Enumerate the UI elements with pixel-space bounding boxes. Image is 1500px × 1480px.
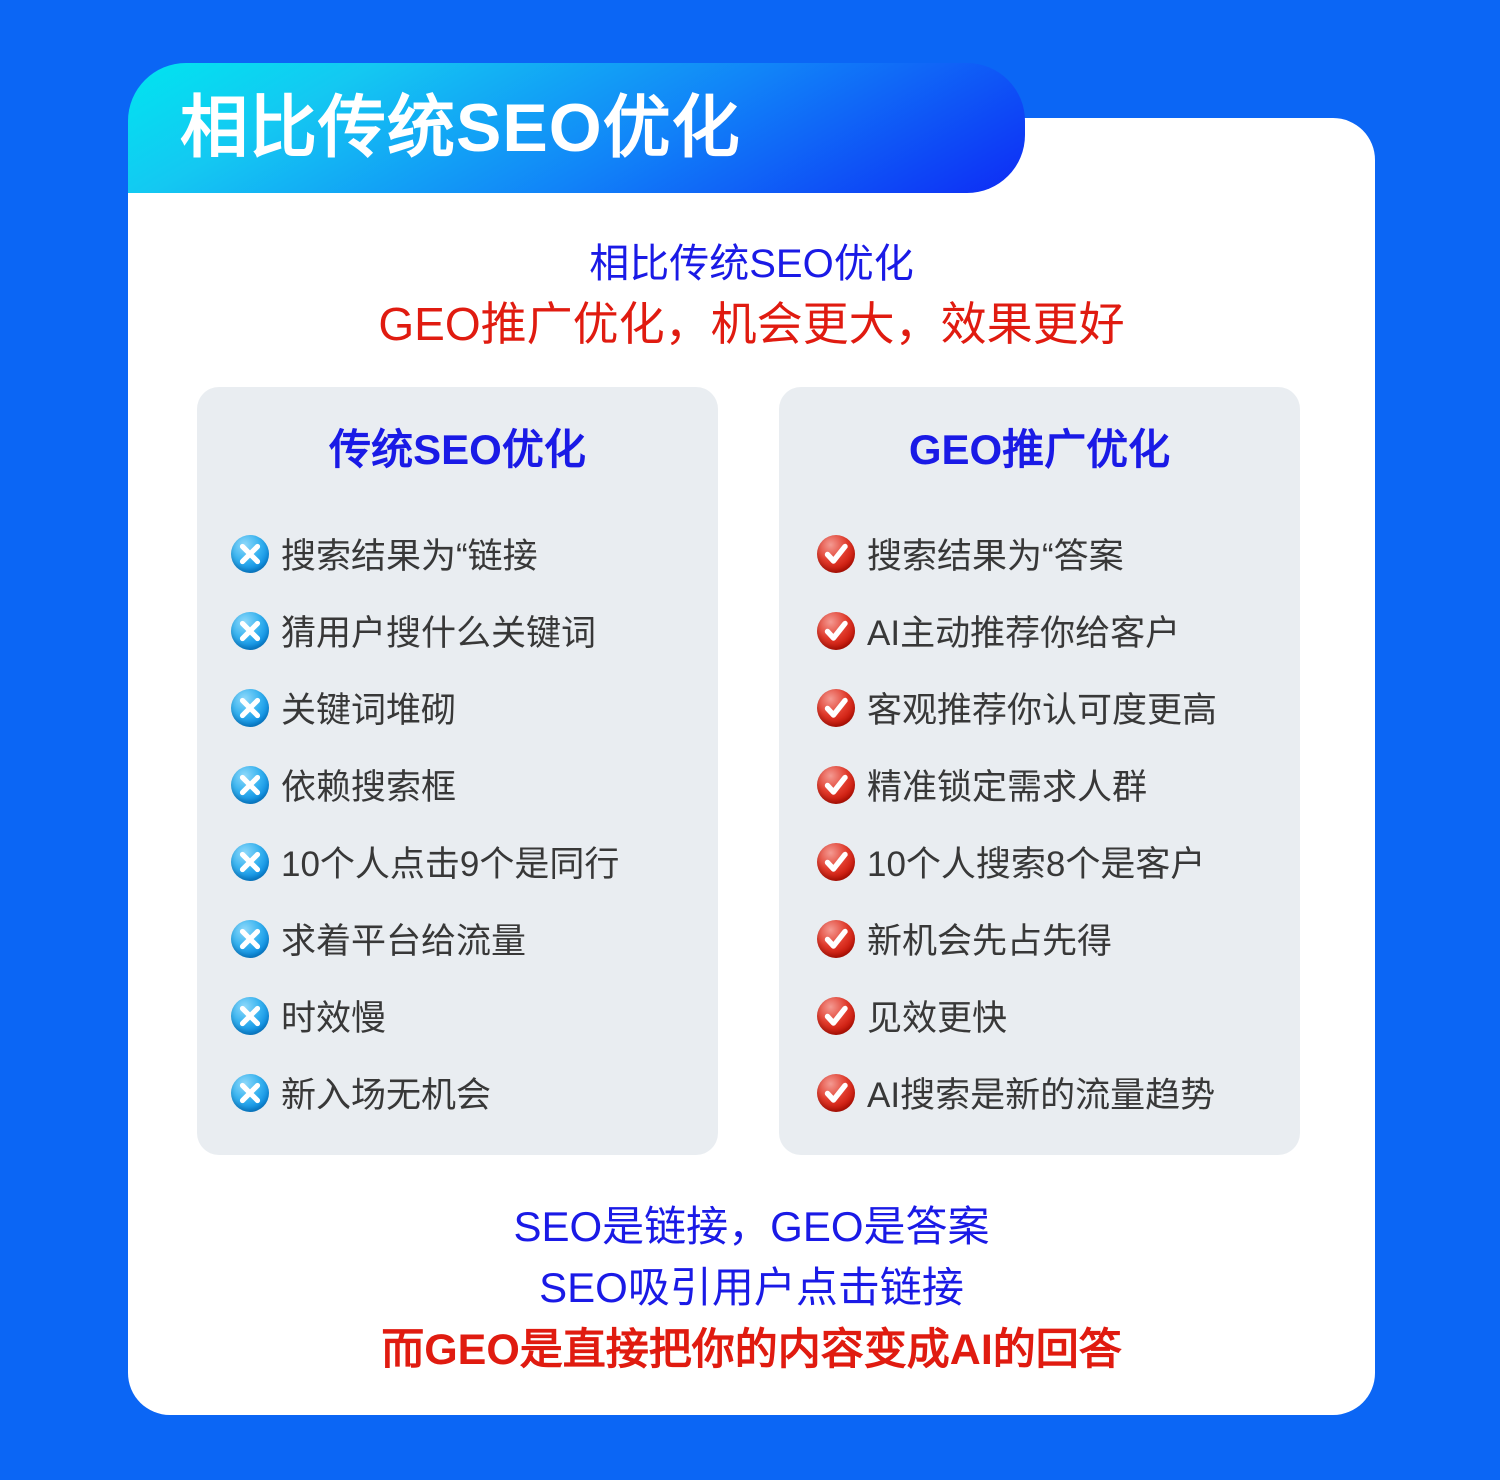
cross-circle-icon bbox=[231, 766, 269, 804]
list-item: 依赖搜索框 bbox=[231, 746, 718, 823]
list-item-label: 猜用户搜什么关键词 bbox=[281, 605, 596, 656]
poster-root: 相比传统SEO优化 相比传统SEO优化 GEO推广优化，机会更大，效果更好 传统… bbox=[0, 0, 1500, 1480]
check-circle-icon bbox=[817, 843, 855, 881]
list-item-label: AI主动推荐你给客户 bbox=[867, 605, 1180, 656]
footer-line-3: 而GEO是直接把你的内容变成AI的回答 bbox=[128, 1318, 1375, 1382]
list-item-label: 搜索结果为“答案 bbox=[867, 528, 1124, 579]
subtitle-line-2: GEO推广优化，机会更大，效果更好 bbox=[128, 293, 1375, 355]
comparison-panels: 传统SEO优化 搜索结果为“链接 猜用户 bbox=[197, 387, 1300, 1155]
check-circle-icon bbox=[817, 612, 855, 650]
list-item-label: 精准锁定需求人群 bbox=[867, 759, 1147, 810]
list-item-label: 客观推荐你认可度更高 bbox=[867, 682, 1217, 733]
check-circle-icon bbox=[817, 535, 855, 573]
footer-line-1: SEO是链接，GEO是答案 bbox=[128, 1196, 1375, 1257]
footer-summary: SEO是链接，GEO是答案 SEO吸引用户点击链接 而GEO是直接把你的内容变成… bbox=[128, 1196, 1375, 1382]
check-circle-icon bbox=[817, 689, 855, 727]
list-item-label: 搜索结果为“链接 bbox=[281, 528, 538, 579]
list-item: 求着平台给流量 bbox=[231, 900, 718, 977]
list-item: 猜用户搜什么关键词 bbox=[231, 592, 718, 669]
list-item: 见效更快 bbox=[817, 977, 1300, 1054]
check-circle-icon bbox=[817, 1074, 855, 1112]
list-item-label: 求着平台给流量 bbox=[281, 913, 526, 964]
panel-geo-promotion-title: GEO推广优化 bbox=[779, 429, 1300, 471]
footer-line-2: SEO吸引用户点击链接 bbox=[128, 1257, 1375, 1318]
list-item: AI搜索是新的流量趋势 bbox=[817, 1054, 1300, 1131]
panel-traditional-seo-list: 搜索结果为“链接 猜用户搜什么关键词 bbox=[197, 515, 718, 1131]
check-circle-icon bbox=[817, 766, 855, 804]
cross-circle-icon bbox=[231, 689, 269, 727]
list-item-label: 10个人点击9个是同行 bbox=[281, 836, 619, 887]
list-item: 新入场无机会 bbox=[231, 1054, 718, 1131]
subtitle-line-1: 相比传统SEO优化 bbox=[128, 236, 1375, 293]
cross-circle-icon bbox=[231, 535, 269, 573]
list-item-label: 依赖搜索框 bbox=[281, 759, 456, 810]
panel-geo-promotion-list: 搜索结果为“答案 AI主动推荐你给客户 bbox=[779, 515, 1300, 1131]
header-banner: 相比传统SEO优化 bbox=[128, 63, 1025, 193]
list-item: 搜索结果为“答案 bbox=[817, 515, 1300, 592]
cross-circle-icon bbox=[231, 612, 269, 650]
panel-traditional-seo-title: 传统SEO优化 bbox=[197, 429, 718, 471]
list-item: 10个人点击9个是同行 bbox=[231, 823, 718, 900]
cross-circle-icon bbox=[231, 920, 269, 958]
list-item: 10个人搜索8个是客户 bbox=[817, 823, 1300, 900]
list-item-label: 见效更快 bbox=[867, 990, 1007, 1041]
list-item-label: 新入场无机会 bbox=[281, 1067, 491, 1118]
cross-circle-icon bbox=[231, 843, 269, 881]
list-item: 客观推荐你认可度更高 bbox=[817, 669, 1300, 746]
list-item-label: 新机会先占先得 bbox=[867, 913, 1112, 964]
list-item: AI主动推荐你给客户 bbox=[817, 592, 1300, 669]
list-item: 精准锁定需求人群 bbox=[817, 746, 1300, 823]
cross-circle-icon bbox=[231, 997, 269, 1035]
list-item: 搜索结果为“链接 bbox=[231, 515, 718, 592]
list-item: 时效慢 bbox=[231, 977, 718, 1054]
list-item-label: 关键词堆砌 bbox=[281, 682, 456, 733]
list-item: 关键词堆砌 bbox=[231, 669, 718, 746]
cross-circle-icon bbox=[231, 1074, 269, 1112]
list-item: 新机会先占先得 bbox=[817, 900, 1300, 977]
check-circle-icon bbox=[817, 997, 855, 1035]
panel-traditional-seo: 传统SEO优化 搜索结果为“链接 猜用户 bbox=[197, 387, 718, 1155]
list-item-label: AI搜索是新的流量趋势 bbox=[867, 1067, 1215, 1118]
panel-geo-promotion: GEO推广优化 搜索结果为“答案 AI主 bbox=[779, 387, 1300, 1155]
banner-title: 相比传统SEO优化 bbox=[180, 94, 741, 162]
list-item-label: 时效慢 bbox=[281, 990, 386, 1041]
list-item-label: 10个人搜索8个是客户 bbox=[867, 836, 1205, 887]
check-circle-icon bbox=[817, 920, 855, 958]
subtitle-block: 相比传统SEO优化 GEO推广优化，机会更大，效果更好 bbox=[128, 236, 1375, 355]
